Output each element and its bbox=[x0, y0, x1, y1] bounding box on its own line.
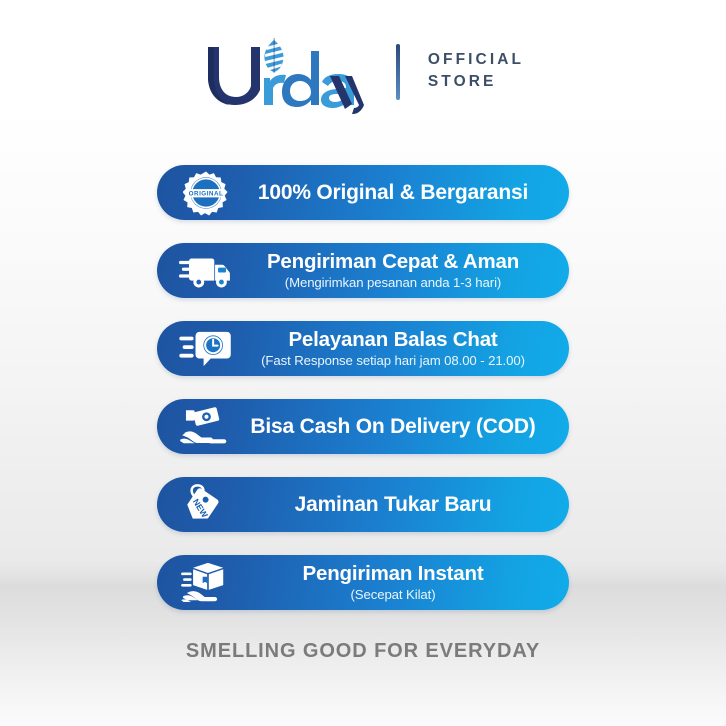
feature-subtitle: (Fast Response setiap hari jam 08.00 - 2… bbox=[261, 353, 525, 369]
feature-title: Pelayanan Balas Chat bbox=[288, 329, 497, 352]
feature-title: Pengiriman Instant bbox=[303, 563, 484, 586]
feature-pill-exchange-guarantee[interactable]: NEW Jaminan Tukar Baru bbox=[157, 477, 569, 532]
striped-leaf-icon bbox=[263, 38, 284, 73]
new-tag-icon: NEW bbox=[169, 477, 243, 532]
feature-text: Bisa Cash On Delivery (COD) bbox=[243, 415, 569, 439]
feature-list: ORIGINAL 100% Original & Bergaransi bbox=[157, 165, 569, 633]
feature-subtitle: (Mengirimkan pesanan anda 1-3 hari) bbox=[285, 275, 501, 291]
official-line-2: STORE bbox=[428, 71, 524, 93]
feature-pill-chat-service[interactable]: Pelayanan Balas Chat (Fast Response seti… bbox=[157, 321, 569, 376]
official-store-label: OFFICIAL STORE bbox=[428, 49, 524, 93]
feature-title: Jaminan Tukar Baru bbox=[295, 493, 492, 517]
feature-text: Jaminan Tukar Baru bbox=[243, 493, 569, 517]
svg-text:ORIGINAL: ORIGINAL bbox=[189, 190, 224, 197]
feature-title: Bisa Cash On Delivery (COD) bbox=[250, 415, 535, 439]
urday-wordmark-svg bbox=[202, 31, 366, 117]
brand-header: OFFICIAL STORE bbox=[0, 24, 726, 124]
hand-money-icon bbox=[169, 399, 243, 454]
feature-subtitle: (Secepat Kilat) bbox=[351, 587, 436, 603]
feature-title: 100% Original & Bergaransi bbox=[258, 181, 528, 205]
official-line-1: OFFICIAL bbox=[428, 49, 524, 71]
feature-pill-instant-delivery[interactable]: Pengiriman Instant (Secepat Kilat) bbox=[157, 555, 569, 610]
hand-box-icon bbox=[169, 555, 243, 610]
delivery-truck-icon bbox=[169, 243, 243, 298]
feature-text: Pelayanan Balas Chat (Fast Response seti… bbox=[243, 329, 569, 369]
feature-title: Pengiriman Cepat & Aman bbox=[267, 251, 519, 274]
promo-banner: OFFICIAL STORE ORIGINAL 100% Original & … bbox=[0, 0, 726, 726]
brand-logo bbox=[202, 31, 372, 117]
feature-pill-fast-delivery[interactable]: Pengiriman Cepat & Aman (Mengirimkan pes… bbox=[157, 243, 569, 298]
chat-clock-icon bbox=[169, 321, 243, 376]
footer-tagline: SMELLING GOOD FOR EVERYDAY bbox=[0, 640, 726, 663]
feature-pill-original[interactable]: ORIGINAL 100% Original & Bergaransi bbox=[157, 165, 569, 220]
original-badge-icon: ORIGINAL bbox=[169, 165, 243, 220]
feature-pill-cod[interactable]: Bisa Cash On Delivery (COD) bbox=[157, 399, 569, 454]
feature-text: 100% Original & Bergaransi bbox=[243, 181, 569, 205]
feature-text: Pengiriman Instant (Secepat Kilat) bbox=[243, 563, 569, 603]
logo-divider bbox=[396, 44, 400, 100]
feature-text: Pengiriman Cepat & Aman (Mengirimkan pes… bbox=[243, 251, 569, 291]
